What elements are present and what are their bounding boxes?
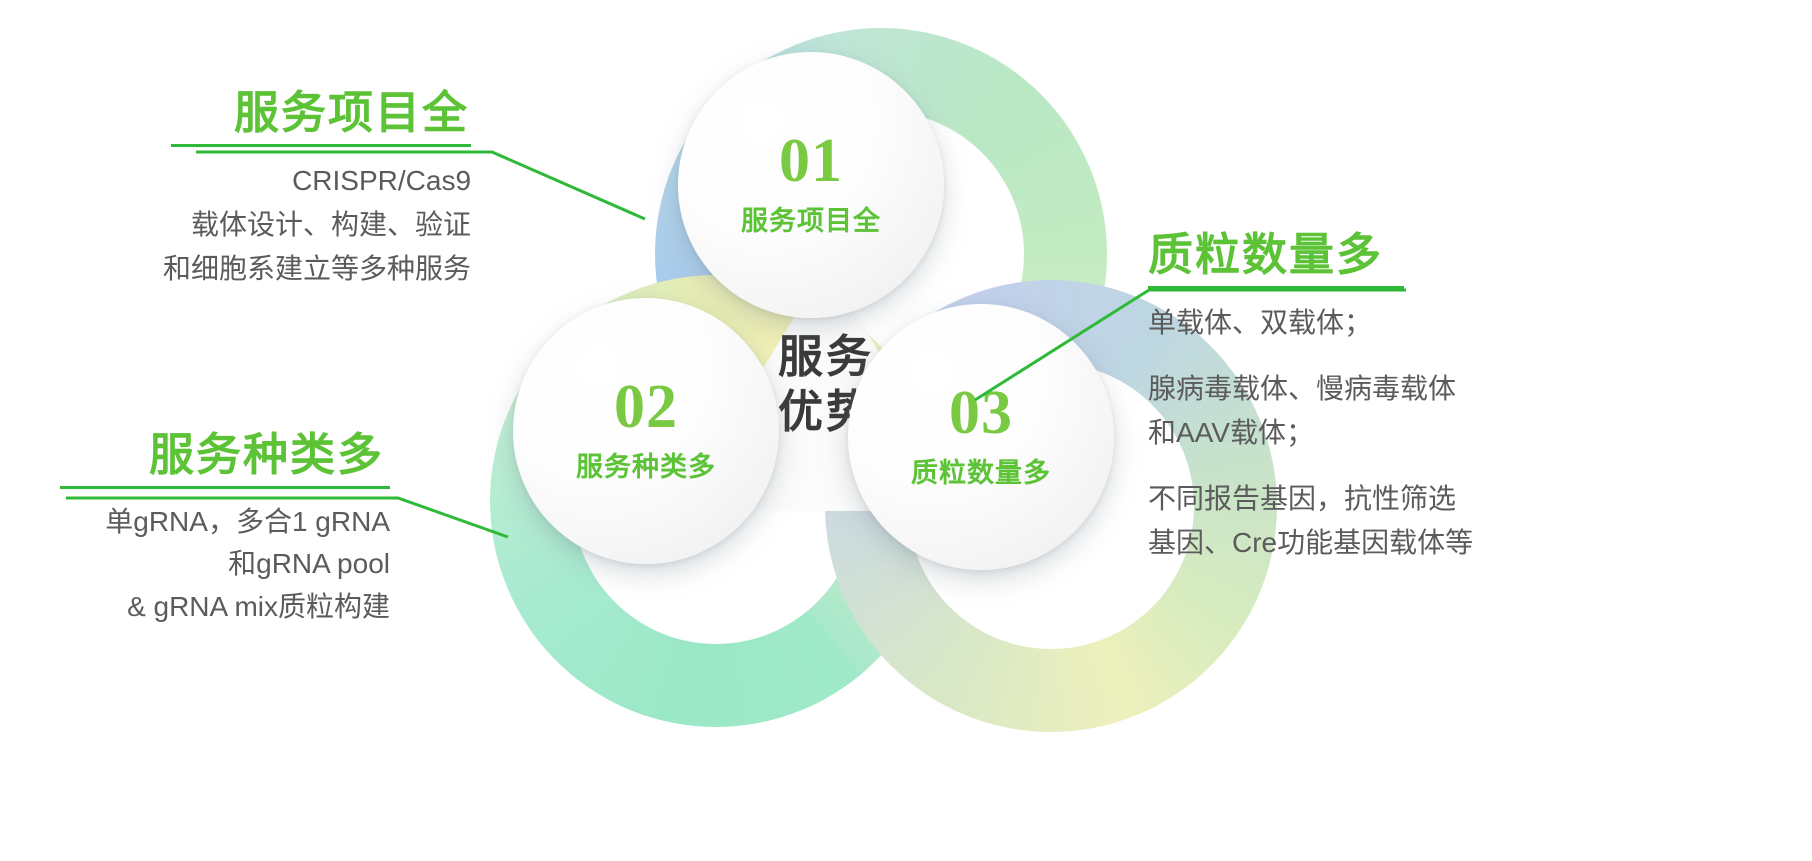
node-number-03: 03: [949, 384, 1013, 443]
callout-service-scope: 服务项目全 CRISPR/Cas9 载体设计、构建、验证 和细胞系建立等多种服务: [163, 88, 471, 291]
callout-title-03: 质粒数量多: [1148, 230, 1473, 280]
node-disc-02[interactable]: 02 服务种类多: [513, 298, 779, 564]
callout-plasmid-count: 质粒数量多 单载体、双载体； 腺病毒载体、慢病毒载体和AAV载体； 不同报告基因…: [1148, 230, 1473, 566]
callout-line: 单gRNA，多合1 gRNA: [60, 501, 390, 544]
callout-line: 载体设计、构建、验证: [163, 203, 471, 247]
callout-title-02: 服务种类多: [60, 430, 390, 480]
node-caption-02: 服务种类多: [576, 445, 716, 484]
callout-line: & gRNA mix质粒构建: [60, 586, 390, 629]
node-caption-03: 质粒数量多: [911, 451, 1051, 490]
node-number-02: 02: [614, 378, 678, 437]
callout-paragraph: 单载体、双载体；: [1148, 301, 1473, 345]
infographic-canvas: 服务 优势 01 服务项目全 02 服务种类多 03 质粒数量多 服务项目全 C…: [0, 0, 1812, 861]
callout-title-01: 服务项目全: [163, 88, 471, 138]
callout-body-02: 单gRNA，多合1 gRNA 和gRNA pool & gRNA mix质粒构建: [60, 501, 390, 629]
callout-paragraph: 腺病毒载体、慢病毒载体和AAV载体；: [1148, 367, 1473, 455]
callout-body-01: CRISPR/Cas9 载体设计、构建、验证 和细胞系建立等多种服务: [163, 159, 471, 292]
node-disc-01[interactable]: 01 服务项目全: [678, 52, 944, 318]
node-number-01: 01: [779, 132, 843, 191]
callout-rule-01: [171, 144, 471, 147]
callout-rule-02: [60, 486, 390, 489]
node-caption-01: 服务项目全: [741, 199, 881, 238]
callout-service-types: 服务种类多 单gRNA，多合1 gRNA 和gRNA pool & gRNA m…: [60, 430, 390, 628]
callout-line: 和细胞系建立等多种服务: [163, 247, 471, 291]
callout-body-03: 单载体、双载体； 腺病毒载体、慢病毒载体和AAV载体； 不同报告基因，抗性筛选基…: [1148, 301, 1473, 566]
node-disc-03[interactable]: 03 质粒数量多: [848, 304, 1114, 570]
callout-line: CRISPR/Cas9: [163, 159, 471, 203]
callout-line: 和gRNA pool: [60, 543, 390, 586]
callout-paragraph: 不同报告基因，抗性筛选基因、Cre功能基因载体等: [1148, 477, 1473, 565]
service-advantage-diagram: 服务 优势 01 服务项目全 02 服务种类多 03 质粒数量多: [480, 10, 1180, 730]
callout-rule-03: [1148, 286, 1404, 289]
